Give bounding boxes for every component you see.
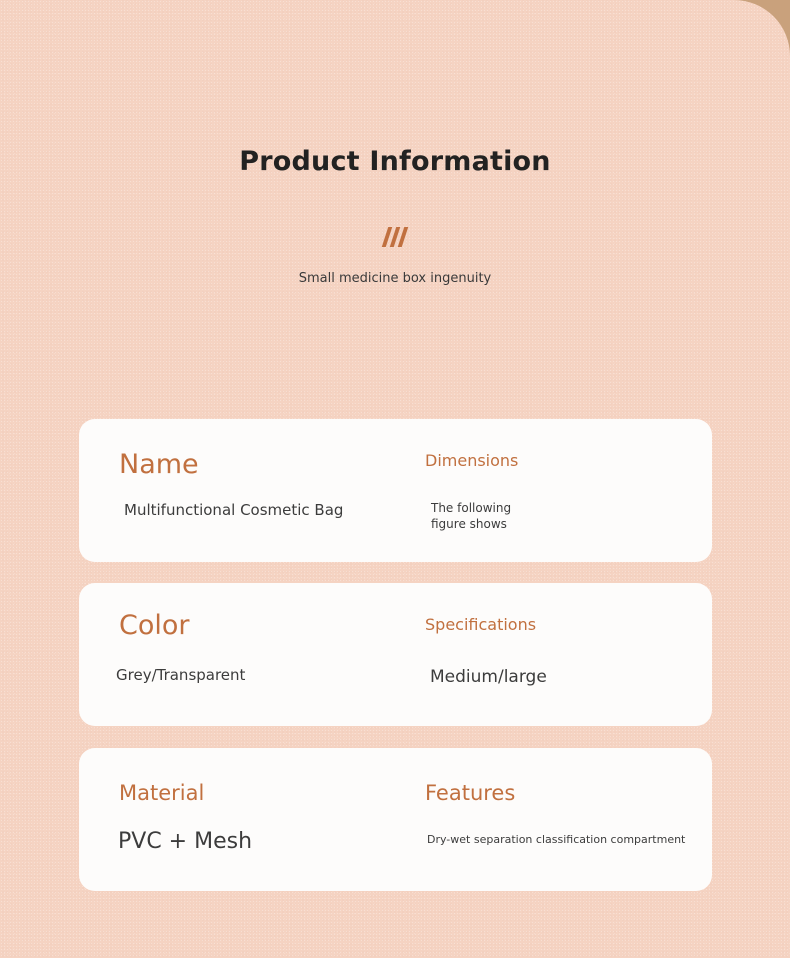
spec-label: Color (119, 610, 190, 642)
spec-value: The following figure shows (431, 501, 527, 532)
spec-label: Features (425, 781, 515, 806)
page-header: Product Information Small medicine box i… (0, 0, 790, 288)
spec-label: Name (119, 449, 199, 481)
spec-value: Dry-wet separation classification compar… (427, 833, 727, 847)
three-slash-ornament-icon (0, 225, 790, 249)
spec-label: Material (119, 781, 204, 806)
spec-card: Color Grey/Transparent Specifications Me… (79, 583, 712, 726)
spec-value: PVC + Mesh (118, 828, 252, 857)
product-information-page: Product Information Small medicine box i… (0, 0, 790, 958)
spec-value: Grey/Transparent (116, 666, 245, 686)
page-title: Product Information (0, 0, 790, 178)
spec-card: Material PVC + Mesh Features Dry-wet sep… (79, 748, 712, 891)
spec-value: Multifunctional Cosmetic Bag (124, 501, 343, 521)
spec-card: Name Multifunctional Cosmetic Bag Dimens… (79, 419, 712, 562)
spec-value: Medium/large (430, 666, 547, 688)
spec-label: Dimensions (425, 452, 518, 471)
page-subtitle: Small medicine box ingenuity (0, 249, 790, 288)
spec-label: Specifications (425, 616, 536, 635)
